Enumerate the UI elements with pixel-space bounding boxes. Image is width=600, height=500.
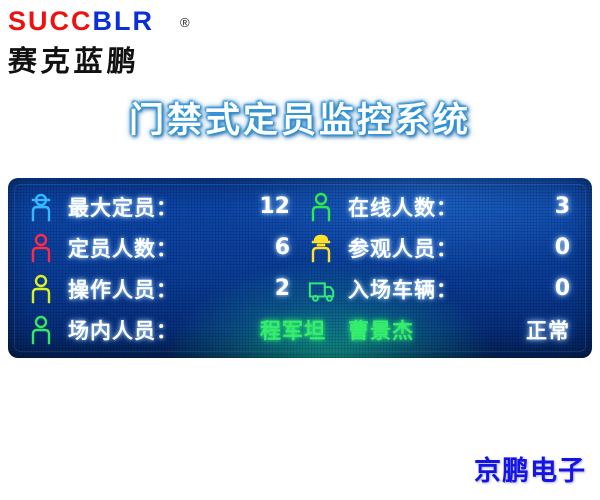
led-value-operator-count: 2 <box>178 276 308 301</box>
page-title: 门禁式定员监控系统 <box>0 92 600 143</box>
logo-succ-text: SUCC <box>8 6 93 36</box>
led-value-max-capacity: 12 <box>178 194 308 219</box>
led-label-operator-count: 操作人员： <box>68 274 178 304</box>
led-display-panel: 最大定员： 12 在线人数： 3 <box>8 178 592 358</box>
led-row: 最大定员： 12 在线人数： 3 <box>8 186 592 227</box>
led-row-onsite-personnel: 场内人员： 程军坦 曹景杰 正常 <box>8 309 592 350</box>
led-label-registered-count: 定员人数： <box>68 233 178 263</box>
led-label-max-capacity: 最大定员： <box>68 192 178 222</box>
led-row: 操作人员： 2 入场车辆： 0 <box>8 268 592 309</box>
led-row: 定员人数： 6 参观人员： 0 <box>8 227 592 268</box>
personnel-name: 曹景杰 <box>348 315 414 345</box>
logo-chinese-text: 赛克蓝鹏 <box>7 38 219 80</box>
led-label-onsite-personnel: 场内人员： <box>68 315 178 345</box>
person-red-icon <box>28 233 54 263</box>
onsite-personnel-names: 程军坦 曹景杰 <box>178 315 526 345</box>
registered-trademark-icon: ® <box>180 8 192 38</box>
led-value-registered-count: 6 <box>178 235 308 260</box>
led-value-online-count: 3 <box>458 194 592 219</box>
person-yellow-icon <box>28 274 54 304</box>
logo-blr-text: BLR <box>93 6 155 36</box>
led-cell-operator-count: 操作人员： 2 <box>8 274 308 304</box>
company-logo: SUCCBLR ® 赛克蓝鹏 <box>8 6 218 74</box>
logo-latin-text: SUCCBLR ® <box>8 6 218 36</box>
person-cap-icon <box>28 192 54 222</box>
led-label-vehicle-count: 入场车辆： <box>348 274 458 304</box>
led-cell-max-capacity: 最大定员： 12 <box>8 192 308 222</box>
led-value-visitor-count: 0 <box>458 235 592 260</box>
led-cell-registered-count: 定员人数： 6 <box>8 233 308 263</box>
led-label-visitor-count: 参观人员： <box>348 233 458 263</box>
led-cell-vehicle-count: 入场车辆： 0 <box>308 274 592 304</box>
led-value-vehicle-count: 0 <box>458 276 592 301</box>
led-rows-container: 最大定员： 12 在线人数： 3 <box>8 186 592 350</box>
footer-company-name: 京鹏电子 <box>474 449 586 488</box>
person-hat-yellow-icon <box>308 233 334 263</box>
personnel-name: 程军坦 <box>260 315 326 345</box>
truck-icon <box>308 274 334 304</box>
person-green-icon <box>308 192 334 222</box>
led-cell-online-count: 在线人数： 3 <box>308 192 592 222</box>
led-cell-visitor-count: 参观人员： 0 <box>308 233 592 263</box>
status-badge: 正常 <box>526 315 592 345</box>
led-label-online-count: 在线人数： <box>348 192 458 222</box>
person-green2-icon <box>28 315 54 345</box>
